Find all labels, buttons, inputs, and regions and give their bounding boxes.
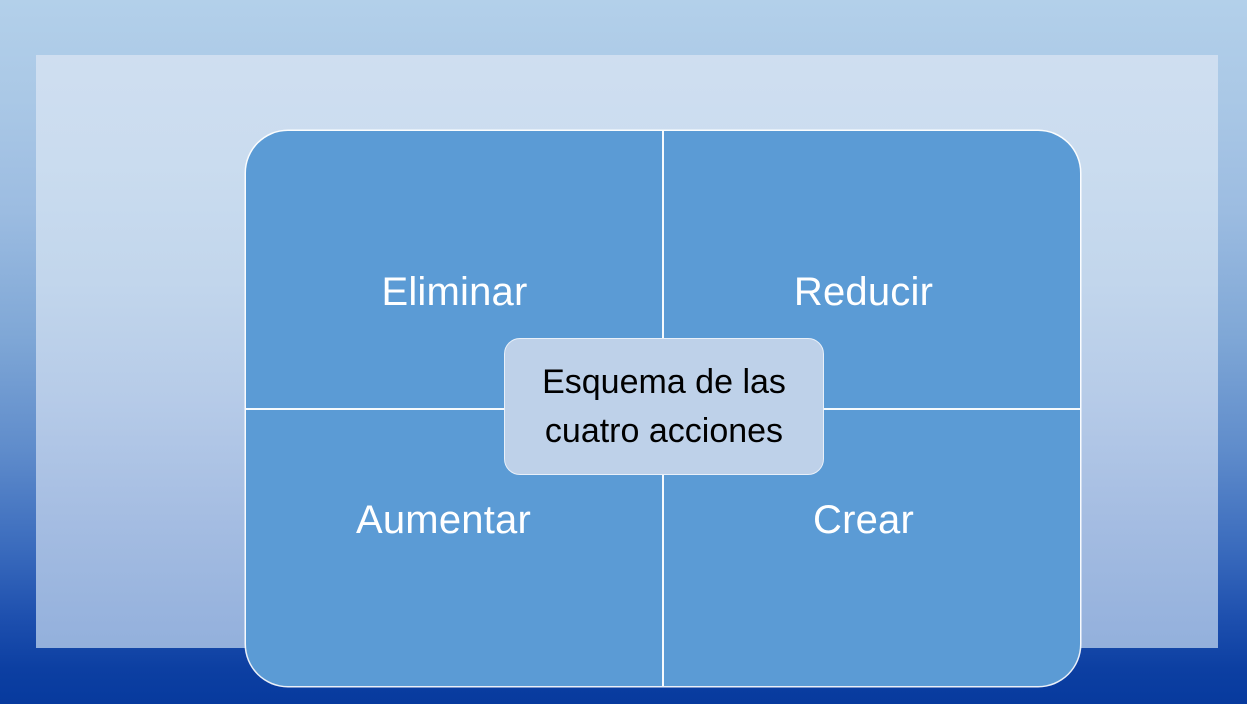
center-title-line-1: Esquema de las bbox=[542, 358, 786, 406]
center-title-box[interactable]: Esquema de las cuatro acciones bbox=[504, 338, 824, 475]
quadrant-label-aumentar: Aumentar bbox=[356, 496, 531, 544]
slide-canvas: Eliminar Reducir Aumentar Crear Esquema … bbox=[0, 0, 1247, 704]
content-panel: Eliminar Reducir Aumentar Crear Esquema … bbox=[36, 55, 1218, 648]
quadrant-label-reducir: Reducir bbox=[794, 268, 933, 316]
quadrant-label-eliminar: Eliminar bbox=[381, 268, 527, 316]
quadrant-label-crear: Crear bbox=[813, 496, 914, 544]
center-title-line-2: cuatro acciones bbox=[545, 407, 783, 455]
